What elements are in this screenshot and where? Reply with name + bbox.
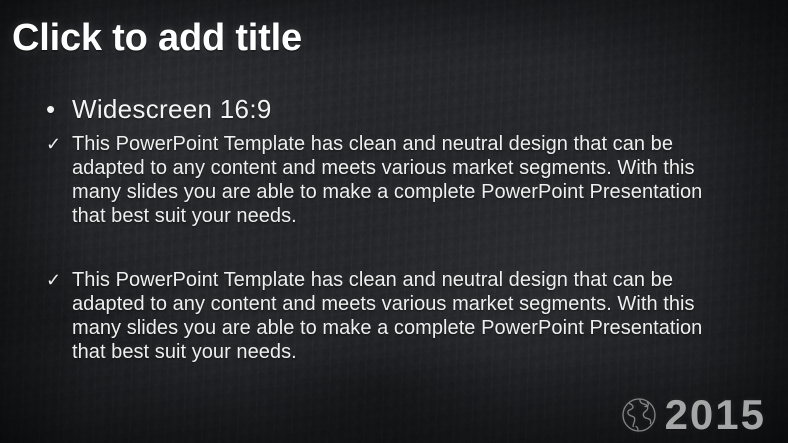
check-icon: ✓ [46, 268, 72, 364]
list-item-text: This PowerPoint Template has clean and n… [72, 268, 734, 364]
list-item: ✓ This PowerPoint Template has clean and… [0, 132, 788, 228]
lead-bullet-item: • Widescreen 16:9 [0, 92, 788, 126]
slide-content: Click to add title • Widescreen 16:9 ✓ T… [0, 0, 788, 443]
check-icon: ✓ [46, 132, 72, 228]
footer-year: 2015 [665, 393, 766, 437]
presentation-slide: Click to add title • Widescreen 16:9 ✓ T… [0, 0, 788, 443]
list-item-text: This PowerPoint Template has clean and n… [72, 132, 734, 228]
list-item: ✓ This PowerPoint Template has clean and… [0, 268, 788, 364]
bullet-dot-icon: • [46, 92, 72, 126]
slide-body-placeholder[interactable]: • Widescreen 16:9 ✓ This PowerPoint Temp… [0, 92, 788, 364]
footer-logo: 2015 [617, 393, 766, 437]
slide-title-placeholder[interactable]: Click to add title [12, 17, 302, 60]
globe-icon [617, 393, 661, 437]
lead-bullet-label: Widescreen 16:9 [72, 92, 272, 126]
